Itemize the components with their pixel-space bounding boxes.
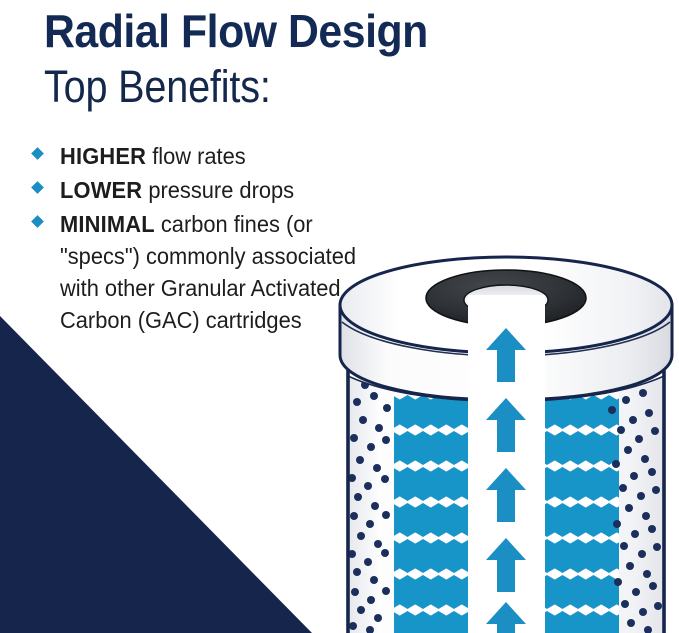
- benefit-emphasis: MINIMAL: [60, 211, 155, 237]
- cartridge-svg: [330, 250, 679, 633]
- list-item: LOWER pressure drops: [30, 174, 400, 206]
- infographic-page: Radial Flow Design Top Benefits: HIGHER …: [0, 0, 679, 633]
- benefit-text: LOWER pressure drops: [60, 174, 383, 206]
- diamond-bullet-icon: [31, 181, 44, 194]
- filter-cartridge-illustration: [330, 250, 679, 633]
- benefit-remainder: flow rates: [146, 143, 246, 169]
- navy-corner-triangle: [0, 316, 312, 633]
- carbon-block-media-left: [388, 370, 474, 633]
- benefit-text: HIGHER flow rates: [60, 140, 383, 172]
- benefit-emphasis: HIGHER: [60, 143, 146, 169]
- benefit-emphasis: LOWER: [60, 177, 142, 203]
- list-item: HIGHER flow rates: [30, 140, 400, 172]
- diamond-bullet-icon: [31, 215, 44, 228]
- subtitle: Top Benefits:: [44, 61, 271, 113]
- diamond-bullet-icon: [31, 147, 44, 160]
- page-title: Radial Flow Design: [44, 2, 428, 60]
- benefit-remainder: pressure drops: [142, 177, 294, 203]
